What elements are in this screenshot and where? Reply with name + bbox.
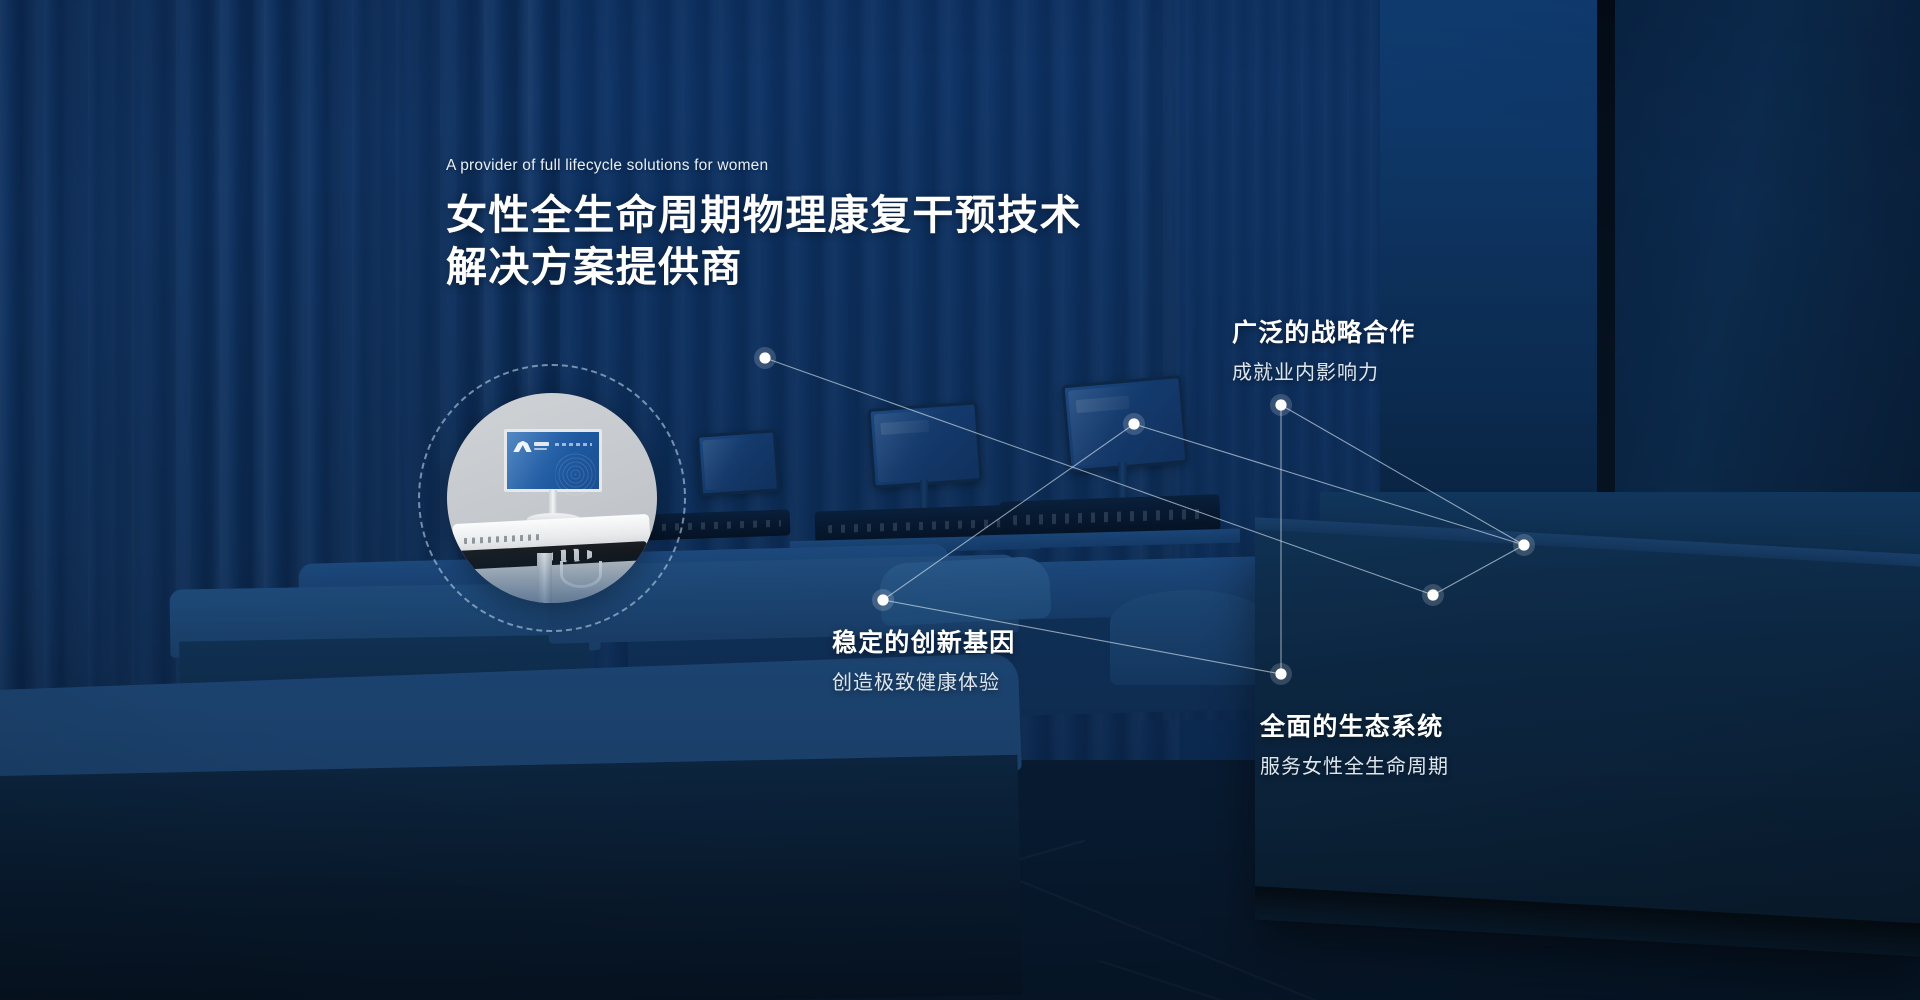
connector-line [765,358,1433,595]
screen-arc-graphic [555,452,596,496]
callout-strategic-cooperation[interactable]: 广泛的战略合作成就业内影响力 [1232,313,1415,385]
node-mid-right[interactable] [1427,589,1438,600]
callout-title: 广泛的战略合作 [1232,313,1415,349]
brand-logo-text [534,442,549,446]
connector-line [883,424,1134,600]
callout-ecosystem[interactable]: 全面的生态系统服务女性全生命周期 [1260,707,1449,779]
callout-subtitle: 创造极致健康体验 [832,666,1015,695]
callout-title: 稳定的创新基因 [832,623,1015,659]
callout-title: 全面的生态系统 [1260,707,1449,743]
node-ecosystem[interactable] [1275,668,1286,679]
device-circle-callout[interactable] [447,393,657,603]
hero-title-line-1: 女性全生命周期物理康复干预技术 [446,189,1082,241]
device-screen [504,429,603,492]
screen-caption-text [555,443,592,446]
hero-text-block: A provider of full lifecycle solutions f… [446,157,1082,294]
node-bottom-center[interactable] [877,594,888,605]
hero-title-line-2: 解决方案提供商 [446,241,1082,293]
connector-line [1433,545,1524,595]
hero-eyebrow: A provider of full lifecycle solutions f… [446,157,1082,175]
device-photo [447,393,657,603]
connector-line [1134,424,1524,545]
photo-bottom-fade [447,548,657,603]
connector-line [1281,405,1524,545]
connector-network [0,0,1920,1000]
node-monitor[interactable] [1128,418,1139,429]
node-strategic[interactable] [1275,399,1286,410]
hero-banner: A provider of full lifecycle solutions f… [0,0,1920,1000]
node-top-left[interactable] [759,352,770,363]
callout-subtitle: 服务女性全生命周期 [1260,750,1449,779]
callout-innovation-gene[interactable]: 稳定的创新基因创造极致健康体验 [832,623,1015,695]
callout-subtitle: 成就业内影响力 [1232,356,1415,385]
node-far-right[interactable] [1518,539,1529,550]
hero-title: 女性全生命周期物理康复干预技术 解决方案提供商 [446,189,1082,294]
